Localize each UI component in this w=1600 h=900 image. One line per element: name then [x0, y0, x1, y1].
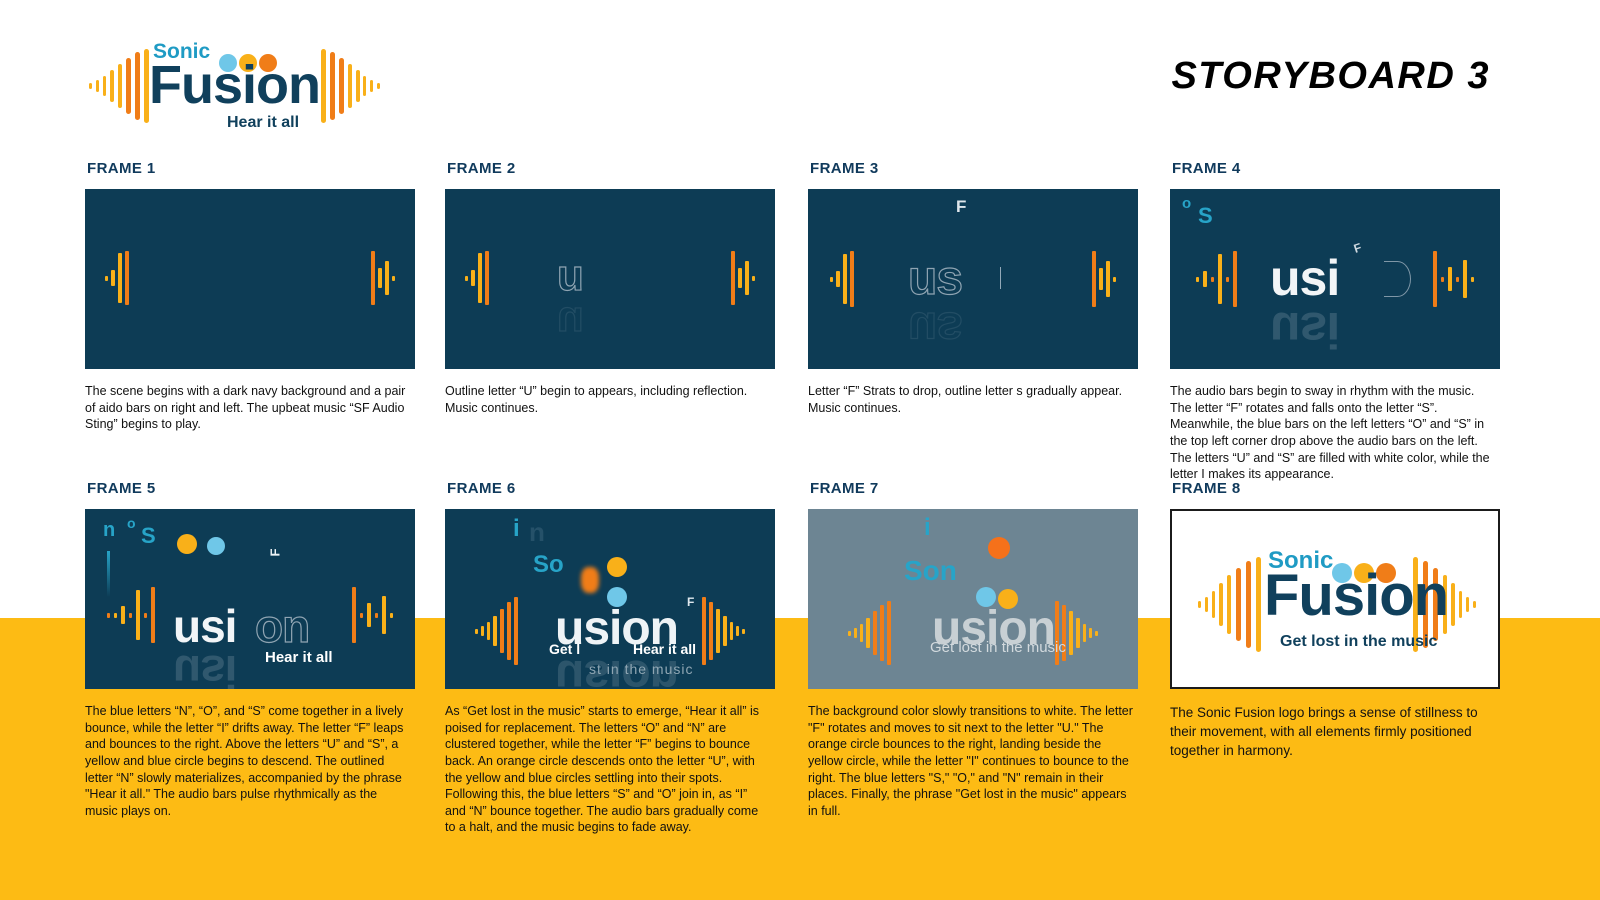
frame-card-1: FRAME 1 The scene begins with a dark nav…	[85, 160, 415, 433]
stage-letter-i-thin	[1000, 267, 1001, 289]
corner-letter-s: S	[141, 523, 156, 549]
frame-caption-5: The blue letters “N”, “O”, and “S” come …	[85, 703, 411, 819]
frame-card-7: FRAME 7 i Son usion Get lost in the musi…	[808, 480, 1138, 819]
audio-bars-right	[702, 597, 745, 665]
audio-bars-left	[830, 251, 854, 307]
corner-letter-i: i	[513, 515, 520, 543]
page-header: Sonic Fusion Hear it all STORYBOARD 3	[0, 0, 1600, 150]
corner-letter-n: n	[103, 519, 115, 542]
audio-bars-right	[1092, 251, 1116, 307]
frame-caption-7: The background color slowly transitions …	[808, 703, 1134, 819]
stage-letters-us-reflection: us	[908, 301, 962, 356]
frame-label-3: FRAME 3	[810, 160, 1138, 177]
stage-letter-u: u	[557, 251, 583, 301]
audio-bars-left	[848, 601, 891, 665]
frame-caption-2: Outline letter “U” begin to appears, inc…	[445, 383, 771, 416]
frame-card-4: FRAME 4 o S usi usi F The audio bars beg…	[1170, 160, 1500, 483]
frame-stage-3: F us us	[808, 189, 1138, 369]
frame-stage-6: i n So F usion usion Get l Hear it all	[445, 509, 775, 689]
audio-bars-left	[465, 251, 489, 305]
circle-orange	[581, 567, 599, 593]
drop-letter-f: F	[267, 549, 282, 557]
circle-orange	[988, 537, 1010, 559]
drop-letter-f: F	[687, 595, 694, 609]
audio-bars-right	[1433, 251, 1474, 307]
frame-card-8: FRAME 8	[1170, 480, 1500, 760]
frame-label-7: FRAME 7	[810, 480, 1138, 497]
logo-tagline: Hear it all	[227, 114, 299, 132]
frame-caption-8: The Sonic Fusion logo brings a sense of …	[1170, 703, 1496, 760]
circle-blue	[207, 537, 225, 555]
frame-card-6: FRAME 6 i n So F usion usion Get l	[445, 480, 775, 836]
circle-yellow	[607, 557, 627, 577]
final-logo: Sonic Fusion Get lost in the music	[1192, 541, 1482, 661]
frame-stage-1	[85, 189, 415, 369]
frame-card-5: FRAME 5 n o S F usi on usi Hear it all	[85, 480, 415, 819]
audio-bars-right	[371, 251, 395, 305]
audio-bars-right	[352, 587, 393, 643]
frame-stage-2: u u	[445, 189, 775, 369]
frame-stage-4: o S usi usi F	[1170, 189, 1500, 369]
stage-letters-us: us	[908, 251, 962, 306]
frame-card-2: FRAME 2 u u Outline letter “U” begin to …	[445, 160, 775, 416]
outline-letter-o-partial	[1384, 261, 1411, 297]
corner-letter-o: o	[127, 515, 136, 531]
logo-fusion-text: Fusion	[1264, 567, 1448, 625]
frame-stage-7: i Son usion Get lost in the music	[808, 509, 1138, 689]
drop-letter-f: F	[1352, 240, 1363, 256]
frame-caption-6: As “Get lost in the music” starts to eme…	[445, 703, 771, 836]
frame-stage-8: Sonic Fusion Get lost in the music	[1170, 509, 1500, 689]
frame-caption-4: The audio bars begin to sway in rhythm w…	[1170, 383, 1496, 483]
stage-letters-usi-reflection: usi	[173, 645, 236, 689]
stage-tagline-ghost: st in the music	[589, 661, 693, 677]
circle-yellow	[177, 534, 197, 554]
corner-letter-i: i	[924, 514, 931, 542]
frame-label-2: FRAME 2	[447, 160, 775, 177]
page-title: STORYBOARD 3	[1171, 55, 1490, 98]
corner-letter-n: n	[529, 517, 545, 548]
frame-card-3: FRAME 3 F us us Letter “F” Strats to dro…	[808, 160, 1138, 416]
frame-label-4: FRAME 4	[1172, 160, 1500, 177]
corner-letters-so: So	[533, 551, 564, 579]
stage-tagline: Hear it all	[265, 649, 333, 666]
audio-bars-left	[105, 251, 129, 305]
audio-bars-left	[1196, 251, 1237, 307]
brand-logo: Sonic Fusion Hear it all	[85, 36, 385, 136]
stage-letter-u-reflection: u	[557, 297, 583, 347]
audio-bars-left	[475, 597, 518, 665]
frame-label-1: FRAME 1	[87, 160, 415, 177]
stage-tagline: Hear it all	[633, 641, 696, 657]
frame-label-8: FRAME 8	[1172, 480, 1500, 497]
frame-caption-3: Letter “F” Strats to drop, outline lette…	[808, 383, 1134, 416]
stage-letters-usi: usi	[1270, 249, 1339, 307]
corner-letter-s: S	[1198, 203, 1213, 229]
audio-bars-left	[107, 587, 155, 643]
frame-label-5: FRAME 5	[87, 480, 415, 497]
frame-caption-1: The scene begins with a dark navy backgr…	[85, 383, 411, 433]
corner-letter-o: o	[1182, 195, 1191, 212]
drop-letter-f: F	[956, 197, 966, 217]
logo-tagline: Get lost in the music	[1280, 633, 1437, 651]
logo-fusion-text: Fusion	[149, 58, 320, 112]
stage-tagline-left: Get l	[549, 641, 580, 657]
frame-stage-5: n o S F usi on usi Hear it all	[85, 509, 415, 689]
stage-letters-on-outline: on	[255, 599, 309, 653]
stage-tagline: Get lost in the music	[930, 639, 1066, 656]
audio-bars-right	[731, 251, 755, 305]
corner-letters-son: Son	[904, 555, 957, 587]
stage-letters-usi-reflection: usi	[1270, 301, 1339, 359]
frame-label-6: FRAME 6	[447, 480, 775, 497]
